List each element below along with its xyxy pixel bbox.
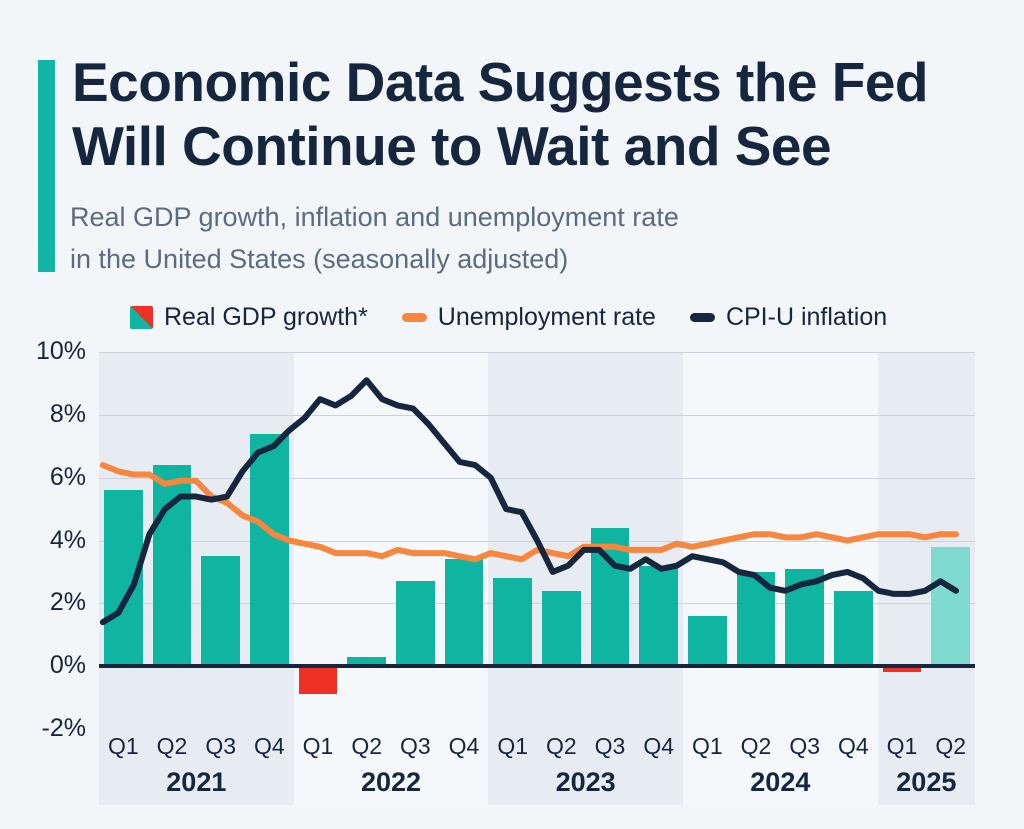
x-tick-label-quarter: Q3 bbox=[196, 733, 245, 760]
line-cpi-inflation bbox=[103, 380, 956, 622]
x-tick-label-quarter: Q3 bbox=[586, 733, 635, 760]
chart-legend: Real GDP growth* Unemployment rate CPI-U… bbox=[130, 300, 930, 334]
x-tick-label-quarter: Q3 bbox=[391, 733, 440, 760]
x-tick-label-quarter: Q4 bbox=[245, 733, 294, 760]
legend-label-gdp: Real GDP growth* bbox=[164, 303, 368, 332]
x-tick-label-quarter: Q1 bbox=[488, 733, 537, 760]
x-tick-label-quarter: Q2 bbox=[732, 733, 781, 760]
x-axis-year-label: 2021 bbox=[99, 767, 294, 798]
legend-item-unemployment[interactable]: Unemployment rate bbox=[402, 303, 656, 332]
y-tick-label: 8% bbox=[14, 400, 86, 429]
y-axis: 10%8%6%4%2%0%-2% bbox=[12, 352, 86, 729]
y-tick-label: 4% bbox=[14, 526, 86, 555]
page-subtitle: Real GDP growth, inflation and unemploym… bbox=[70, 196, 970, 280]
title-line-2: Will Continue to Wait and See bbox=[72, 114, 1012, 178]
legend-label-unemployment: Unemployment rate bbox=[438, 303, 656, 332]
split-square-swatch-icon bbox=[130, 306, 153, 329]
subtitle-line-1: Real GDP growth, inflation and unemploym… bbox=[70, 202, 679, 232]
x-axis: Q1Q2Q3Q42021Q1Q2Q3Q42022Q1Q2Q3Q42023Q1Q2… bbox=[99, 729, 975, 809]
y-tick-label: 2% bbox=[14, 588, 86, 617]
line-unemployment-rate bbox=[103, 465, 956, 559]
infographic-root: Economic Data Suggests the Fed Will Cont… bbox=[0, 0, 1024, 829]
x-axis-year-label: 2022 bbox=[294, 767, 489, 798]
line-series-layer bbox=[99, 352, 975, 729]
y-tick-label: 10% bbox=[14, 337, 86, 366]
legend-item-gdp[interactable]: Real GDP growth* bbox=[130, 303, 368, 332]
chart-area: 10%8%6%4%2%0%-2% Q1Q2Q3Q42021Q1Q2Q3Q4202… bbox=[0, 340, 1024, 810]
x-tick-label-quarter: Q3 bbox=[780, 733, 829, 760]
line-swatch-orange-icon bbox=[402, 313, 427, 322]
y-tick-label: 0% bbox=[14, 651, 86, 680]
x-tick-label-quarter: Q4 bbox=[829, 733, 878, 760]
x-tick-label-quarter: Q2 bbox=[537, 733, 586, 760]
y-tick-label: 6% bbox=[14, 463, 86, 492]
x-tick-label-quarter: Q4 bbox=[440, 733, 489, 760]
x-tick-label-quarter: Q2 bbox=[342, 733, 391, 760]
legend-item-cpi[interactable]: CPI-U inflation bbox=[690, 303, 887, 332]
page-title: Economic Data Suggests the Fed Will Cont… bbox=[72, 50, 1012, 178]
x-tick-label-quarter: Q2 bbox=[148, 733, 197, 760]
line-swatch-navy-icon bbox=[690, 313, 715, 322]
accent-bar bbox=[38, 60, 55, 272]
x-axis-year-label: 2023 bbox=[488, 767, 683, 798]
x-tick-label-quarter: Q1 bbox=[878, 733, 927, 760]
x-tick-label-quarter: Q1 bbox=[294, 733, 343, 760]
x-tick-label-quarter: Q1 bbox=[683, 733, 732, 760]
x-tick-label-quarter: Q4 bbox=[634, 733, 683, 760]
x-tick-label-quarter: Q2 bbox=[926, 733, 975, 760]
title-line-1: Economic Data Suggests the Fed bbox=[72, 51, 928, 113]
x-axis-year-label: 2025 bbox=[878, 767, 975, 798]
x-axis-year-label: 2024 bbox=[683, 767, 878, 798]
x-tick-label-quarter: Q1 bbox=[99, 733, 148, 760]
legend-label-cpi: CPI-U inflation bbox=[726, 303, 887, 332]
subtitle-line-2: in the United States (seasonally adjuste… bbox=[70, 238, 970, 280]
y-tick-label: -2% bbox=[14, 714, 86, 743]
